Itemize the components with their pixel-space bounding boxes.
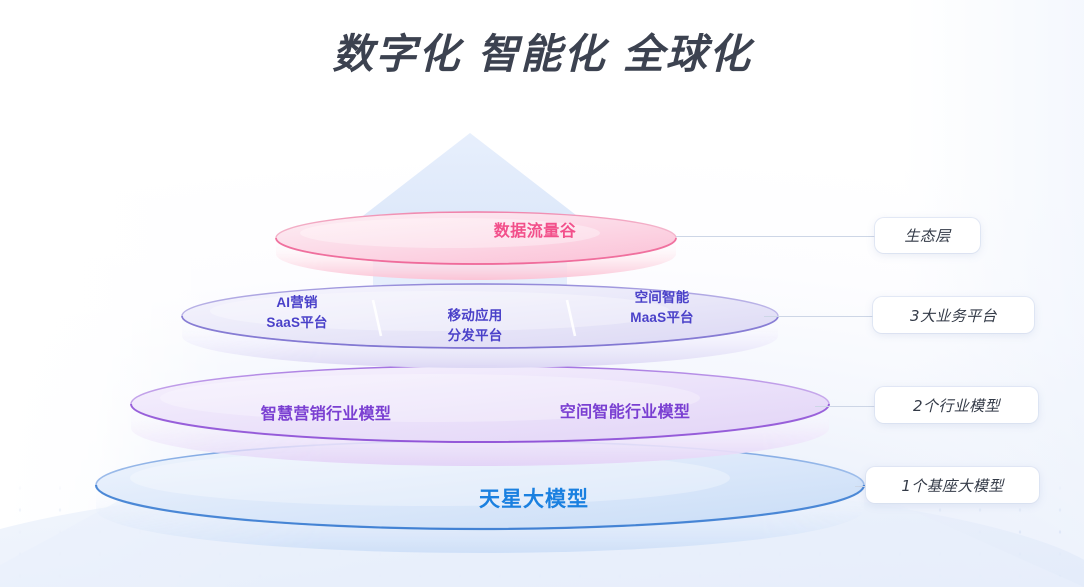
platform-segment-ai-marketing[interactable]: AI营销 SaaS平台 — [236, 293, 358, 332]
platform-segment-ai-marketing-line1: AI营销 — [236, 293, 358, 313]
callout-industry-models-text: 2个行业模型 — [913, 395, 1000, 416]
callout-business-platforms-text: 3大业务平台 — [910, 305, 997, 326]
platform-segment-mobile-app[interactable]: 移动应用 分发平台 — [414, 306, 536, 345]
connector-line-industry-models — [815, 406, 876, 407]
platform-segment-spatial-intelligence-line1: 空间智能 — [598, 288, 726, 308]
callout-industry-models[interactable]: 2个行业模型 — [875, 387, 1038, 423]
platform-segment-spatial-intelligence-line2: MaaS平台 — [598, 308, 726, 328]
platform-segment-ai-marketing-line2: SaaS平台 — [236, 313, 358, 333]
industry-model-marketing[interactable]: 智慧营销行业模型 — [246, 400, 406, 424]
layer-ecosystem[interactable] — [276, 212, 676, 280]
slide-canvas: 数字化 智能化 全球化 数据流量谷 AI营销 SaaS平台 移动应用 分发平台 … — [0, 0, 1084, 587]
callout-foundation-model-text: 1个基座大模型 — [901, 475, 1003, 496]
callout-business-platforms[interactable]: 3大业务平台 — [873, 297, 1034, 333]
callout-ecosystem-text: 生态层 — [904, 225, 950, 246]
layer-industry-models[interactable] — [131, 366, 829, 466]
connector-line-platforms — [764, 316, 874, 317]
industry-model-spatial[interactable]: 空间智能行业模型 — [545, 398, 705, 422]
page-title: 数字化 智能化 全球化 — [0, 20, 1084, 80]
connector-line-ecosystem — [676, 236, 876, 237]
platform-segment-spatial-intelligence[interactable]: 空间智能 MaaS平台 — [598, 288, 726, 327]
callout-ecosystem[interactable]: 生态层 — [875, 218, 980, 253]
platform-segment-mobile-app-line1: 移动应用 — [414, 306, 536, 326]
callout-foundation-model[interactable]: 1个基座大模型 — [866, 467, 1039, 503]
platform-segment-mobile-app-line2: 分发平台 — [414, 326, 536, 346]
